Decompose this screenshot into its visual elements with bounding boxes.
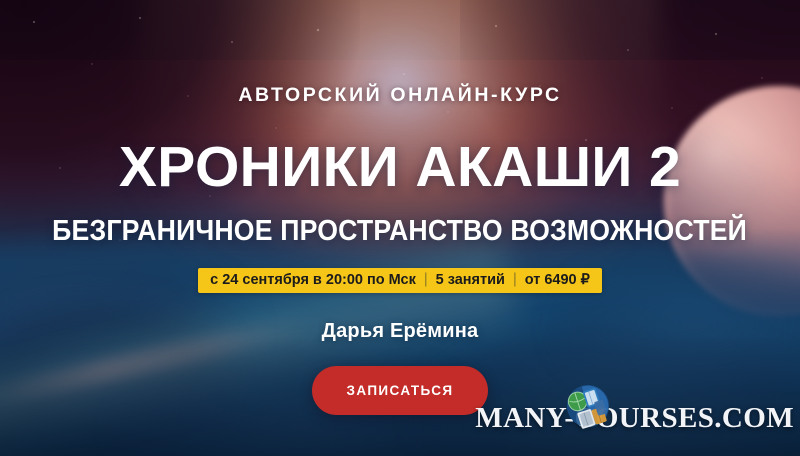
course-promo-banner: АВТОРСКИЙ ОНЛАЙН-КУРС ХРОНИКИ АКАШИ 2 БЕ…: [0, 0, 800, 456]
course-lessons-count: 5 занятий: [436, 272, 505, 288]
course-start-date: с 24 сентября в 20:00 по Мск: [210, 272, 416, 288]
enroll-button[interactable]: ЗАПИСАТЬСЯ: [312, 366, 488, 415]
watermark-text: MANY-COURSES.COM: [475, 402, 794, 435]
banner-content: АВТОРСКИЙ ОНЛАЙН-КУРС ХРОНИКИ АКАШИ 2 БЕ…: [0, 0, 800, 456]
info-separator: |: [513, 272, 517, 288]
course-author-name: Дарья Ерёмина: [322, 320, 479, 343]
info-separator: |: [424, 272, 428, 288]
site-watermark: MANY-COURSES.COM: [475, 402, 794, 435]
course-subtitle: БЕЗГРАНИЧНОЕ ПРОСТРАНСТВО ВОЗМОЖНОСТЕЙ: [53, 215, 748, 248]
course-price: от 6490 ₽: [525, 272, 590, 288]
course-title: ХРОНИКИ АКАШИ 2: [119, 139, 681, 196]
course-info-bar: с 24 сентября в 20:00 по Мск | 5 занятий…: [198, 268, 602, 293]
course-eyebrow-label: АВТОРСКИЙ ОНЛАЙН-КУРС: [238, 84, 561, 107]
